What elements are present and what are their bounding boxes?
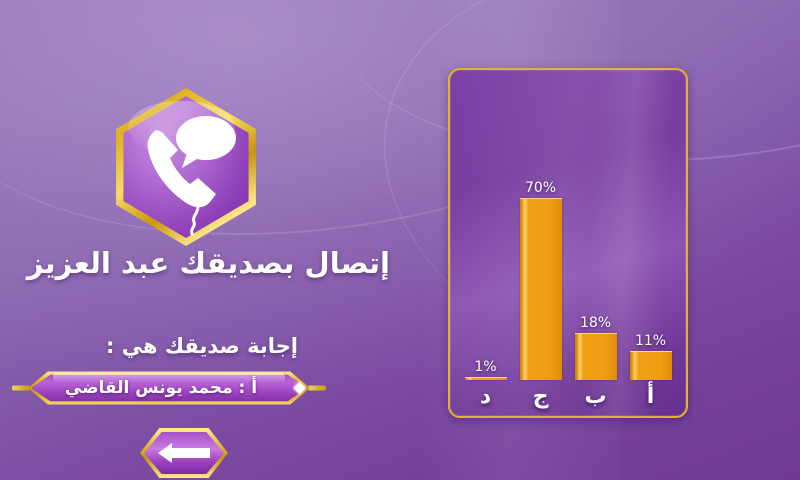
- audience-results-chart: 1%70%18%11% دجبأ: [448, 68, 688, 418]
- chart-plot-area: 1%70%18%11%: [458, 84, 678, 380]
- chart-bar-value: 18%: [580, 316, 611, 330]
- chart-axis-label: د: [463, 386, 509, 408]
- chart-bar-slot: 1%: [463, 84, 509, 380]
- chart-bar-slot: 11%: [628, 84, 674, 380]
- chart-axis-label: ب: [573, 386, 619, 408]
- back-arrow-icon: [158, 442, 210, 464]
- chart-bar: [575, 333, 617, 380]
- answer-text: أ : محمد يونس القاضي: [28, 370, 310, 406]
- page-title: إتصال بصديقك عبد العزيز: [0, 246, 404, 280]
- phone-call-icon: [110, 88, 262, 246]
- chart-bar-value: 11%: [635, 334, 666, 348]
- chart-bar: [465, 377, 507, 380]
- call-a-friend-badge: [110, 88, 262, 246]
- game-screen: إتصال بصديقك عبد العزيز إجابة صديقك هي :…: [0, 0, 800, 480]
- chart-axis-label: أ: [628, 386, 674, 408]
- answer-box-tail-right: [308, 386, 326, 391]
- chart-bar-slot: 70%: [518, 84, 564, 380]
- chart-axis-labels: دجبأ: [458, 382, 678, 412]
- chart-bar-value: 1%: [474, 360, 496, 374]
- chart-bar: [630, 351, 672, 380]
- chart-bar-value: 70%: [525, 181, 556, 195]
- chart-bar: [520, 198, 562, 380]
- chart-bars: 1%70%18%11%: [458, 84, 678, 380]
- chart-bar-slot: 18%: [573, 84, 619, 380]
- lifeline-panel: إتصال بصديقك عبد العزيز إجابة صديقك هي :…: [0, 0, 430, 480]
- friend-answer-box[interactable]: أ : محمد يونس القاضي: [28, 370, 310, 406]
- friend-answer-label: إجابة صديقك هي :: [0, 334, 404, 358]
- back-button[interactable]: [140, 428, 228, 478]
- chart-axis-label: ج: [518, 386, 564, 408]
